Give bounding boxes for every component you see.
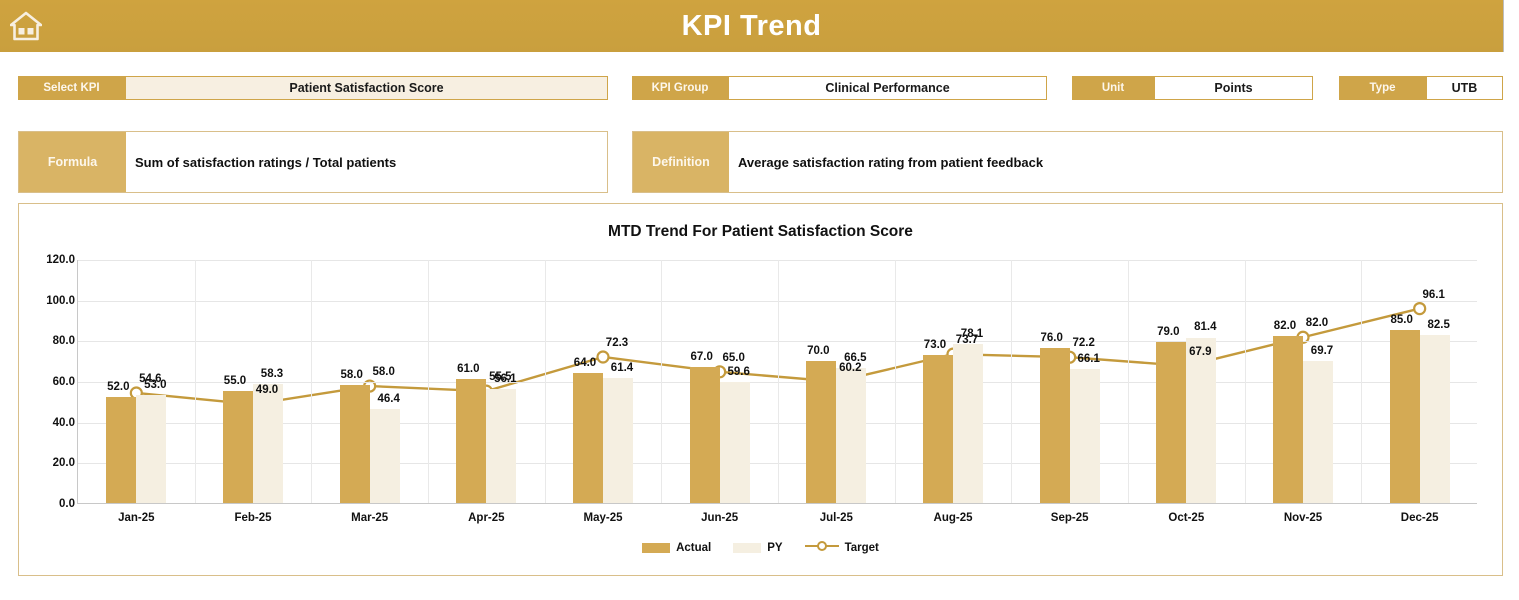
bar-py[interactable] (1186, 338, 1216, 504)
data-label-target: 72.3 (606, 337, 628, 349)
category-separator (545, 260, 546, 503)
target-point-marker[interactable] (1414, 303, 1425, 314)
legend-item-py[interactable]: PY (733, 542, 782, 554)
bar-actual[interactable] (690, 367, 720, 503)
kpi-group-label: KPI Group (632, 76, 728, 100)
unit-label: Unit (1072, 76, 1154, 100)
bar-py[interactable] (370, 409, 400, 503)
legend-swatch-py (733, 543, 761, 553)
bar-py[interactable] (1420, 335, 1450, 503)
formula-panel: Formula Sum of satisfaction ratings / To… (18, 131, 608, 193)
category-separator (1011, 260, 1012, 503)
data-label-py: 46.4 (377, 393, 399, 405)
definition-label: Definition (633, 132, 729, 192)
bar-actual[interactable] (340, 385, 370, 503)
data-label-py: 58.3 (261, 368, 283, 380)
data-label-target: 67.9 (1189, 346, 1211, 358)
data-label-py: 81.4 (1194, 321, 1216, 333)
legend-swatch-actual (642, 543, 670, 553)
data-label-target: 58.0 (372, 366, 394, 378)
y-axis-tick: 20.0 (15, 457, 75, 469)
x-axis-tick: Feb-25 (234, 512, 271, 524)
definition-panel: Definition Average satisfaction rating f… (632, 131, 1503, 193)
bar-py[interactable] (1070, 369, 1100, 503)
bar-actual[interactable] (573, 373, 603, 503)
type-label: Type (1339, 76, 1426, 100)
bar-actual[interactable] (806, 361, 836, 503)
data-label-actual: 70.0 (807, 345, 829, 357)
x-axis-tick: Dec-25 (1401, 512, 1439, 524)
bar-actual[interactable] (1273, 336, 1303, 503)
chart-card: MTD Trend For Patient Satisfaction Score… (18, 203, 1503, 576)
data-label-py: 82.5 (1427, 319, 1449, 331)
y-axis-tick: 60.0 (15, 376, 75, 388)
x-axis-tick: Sep-25 (1051, 512, 1089, 524)
legend-label-target: Target (845, 542, 879, 554)
category-separator (1361, 260, 1362, 503)
bar-py[interactable] (953, 344, 983, 503)
bar-actual[interactable] (223, 391, 253, 503)
bar-py[interactable] (1303, 361, 1333, 503)
data-label-actual: 85.0 (1390, 314, 1412, 326)
definition-value: Average satisfaction rating from patient… (729, 132, 1502, 192)
type-value[interactable]: UTB (1426, 76, 1503, 100)
data-label-actual: 55.0 (224, 375, 246, 387)
category-separator (1128, 260, 1129, 503)
data-label-target: 60.2 (839, 362, 861, 374)
select-kpi-label: Select KPI (18, 76, 125, 100)
data-label-py: 69.7 (1311, 345, 1333, 357)
bar-actual[interactable] (1156, 342, 1186, 503)
x-axis-tick: Apr-25 (468, 512, 504, 524)
legend-label-py: PY (767, 542, 782, 554)
bar-py[interactable] (603, 378, 633, 503)
x-axis-tick: May-25 (584, 512, 623, 524)
data-label-actual: 82.0 (1274, 320, 1296, 332)
chart-title: MTD Trend For Patient Satisfaction Score (19, 223, 1502, 241)
category-separator (1245, 260, 1246, 503)
data-label-target: 55.5 (489, 371, 511, 383)
legend-swatch-target (805, 540, 839, 555)
type-field[interactable]: Type UTB (1339, 76, 1503, 100)
kpi-group-field[interactable]: KPI Group Clinical Performance (632, 76, 1047, 100)
data-label-actual: 58.0 (340, 369, 362, 381)
chart-plot-area: 0.020.040.060.080.0100.0120.052.053.054.… (77, 260, 1477, 504)
bar-actual[interactable] (923, 355, 953, 503)
y-axis-tick: 100.0 (15, 295, 75, 307)
unit-field[interactable]: Unit Points (1072, 76, 1313, 100)
x-axis-tick: Nov-25 (1284, 512, 1322, 524)
x-axis-tick: Jan-25 (118, 512, 154, 524)
bar-py[interactable] (136, 395, 166, 503)
y-axis-tick: 120.0 (15, 254, 75, 266)
category-separator (778, 260, 779, 503)
bar-actual[interactable] (1390, 330, 1420, 503)
data-label-target: 73.7 (956, 334, 978, 346)
legend-item-target[interactable]: Target (805, 540, 879, 555)
chart-legend: Actual PY Target (19, 540, 1502, 555)
target-marker-icon (805, 540, 839, 552)
bar-actual[interactable] (106, 397, 136, 503)
data-label-target: 96.1 (1422, 289, 1444, 301)
formula-value: Sum of satisfaction ratings / Total pati… (126, 132, 607, 192)
data-label-target: 49.0 (256, 384, 278, 396)
select-kpi-field[interactable]: Select KPI Patient Satisfaction Score (18, 76, 608, 100)
data-label-py: 59.6 (727, 366, 749, 378)
x-axis-tick: Jun-25 (701, 512, 738, 524)
data-label-py: 61.4 (611, 362, 633, 374)
bar-actual[interactable] (1040, 348, 1070, 503)
category-separator (428, 260, 429, 503)
data-label-target: 72.2 (1072, 337, 1094, 349)
data-label-actual: 64.0 (574, 357, 596, 369)
page-title: KPI Trend (0, 0, 1503, 52)
data-label-actual: 73.0 (924, 339, 946, 351)
data-label-target: 65.0 (722, 352, 744, 364)
select-kpi-value[interactable]: Patient Satisfaction Score (125, 76, 608, 100)
bar-py[interactable] (486, 389, 516, 503)
x-axis-tick: Jul-25 (820, 512, 853, 524)
x-axis-tick: Aug-25 (934, 512, 973, 524)
legend-item-actual[interactable]: Actual (642, 542, 711, 554)
bar-actual[interactable] (456, 379, 486, 503)
unit-value[interactable]: Points (1154, 76, 1313, 100)
data-label-actual: 61.0 (457, 363, 479, 375)
formula-label: Formula (19, 132, 126, 192)
category-separator (895, 260, 896, 503)
data-label-target: 54.6 (139, 373, 161, 385)
category-separator (311, 260, 312, 503)
app-header: KPI Trend (0, 0, 1504, 52)
data-label-actual: 76.0 (1040, 332, 1062, 344)
data-label-actual: 52.0 (107, 381, 129, 393)
data-label-actual: 79.0 (1157, 326, 1179, 338)
bar-py[interactable] (253, 384, 283, 503)
data-label-py: 66.1 (1077, 353, 1099, 365)
y-axis-tick: 80.0 (15, 335, 75, 347)
data-label-actual: 67.0 (690, 351, 712, 363)
x-axis-tick: Mar-25 (351, 512, 388, 524)
bar-py[interactable] (720, 382, 750, 503)
legend-label-actual: Actual (676, 542, 711, 554)
bar-py[interactable] (836, 368, 866, 503)
y-axis-tick: 40.0 (15, 417, 75, 429)
category-separator (661, 260, 662, 503)
kpi-group-value[interactable]: Clinical Performance (728, 76, 1047, 100)
category-separator (195, 260, 196, 503)
x-axis-tick: Oct-25 (1168, 512, 1204, 524)
y-axis-tick: 0.0 (15, 498, 75, 510)
target-point-marker[interactable] (598, 351, 609, 362)
data-label-target: 82.0 (1306, 317, 1328, 329)
